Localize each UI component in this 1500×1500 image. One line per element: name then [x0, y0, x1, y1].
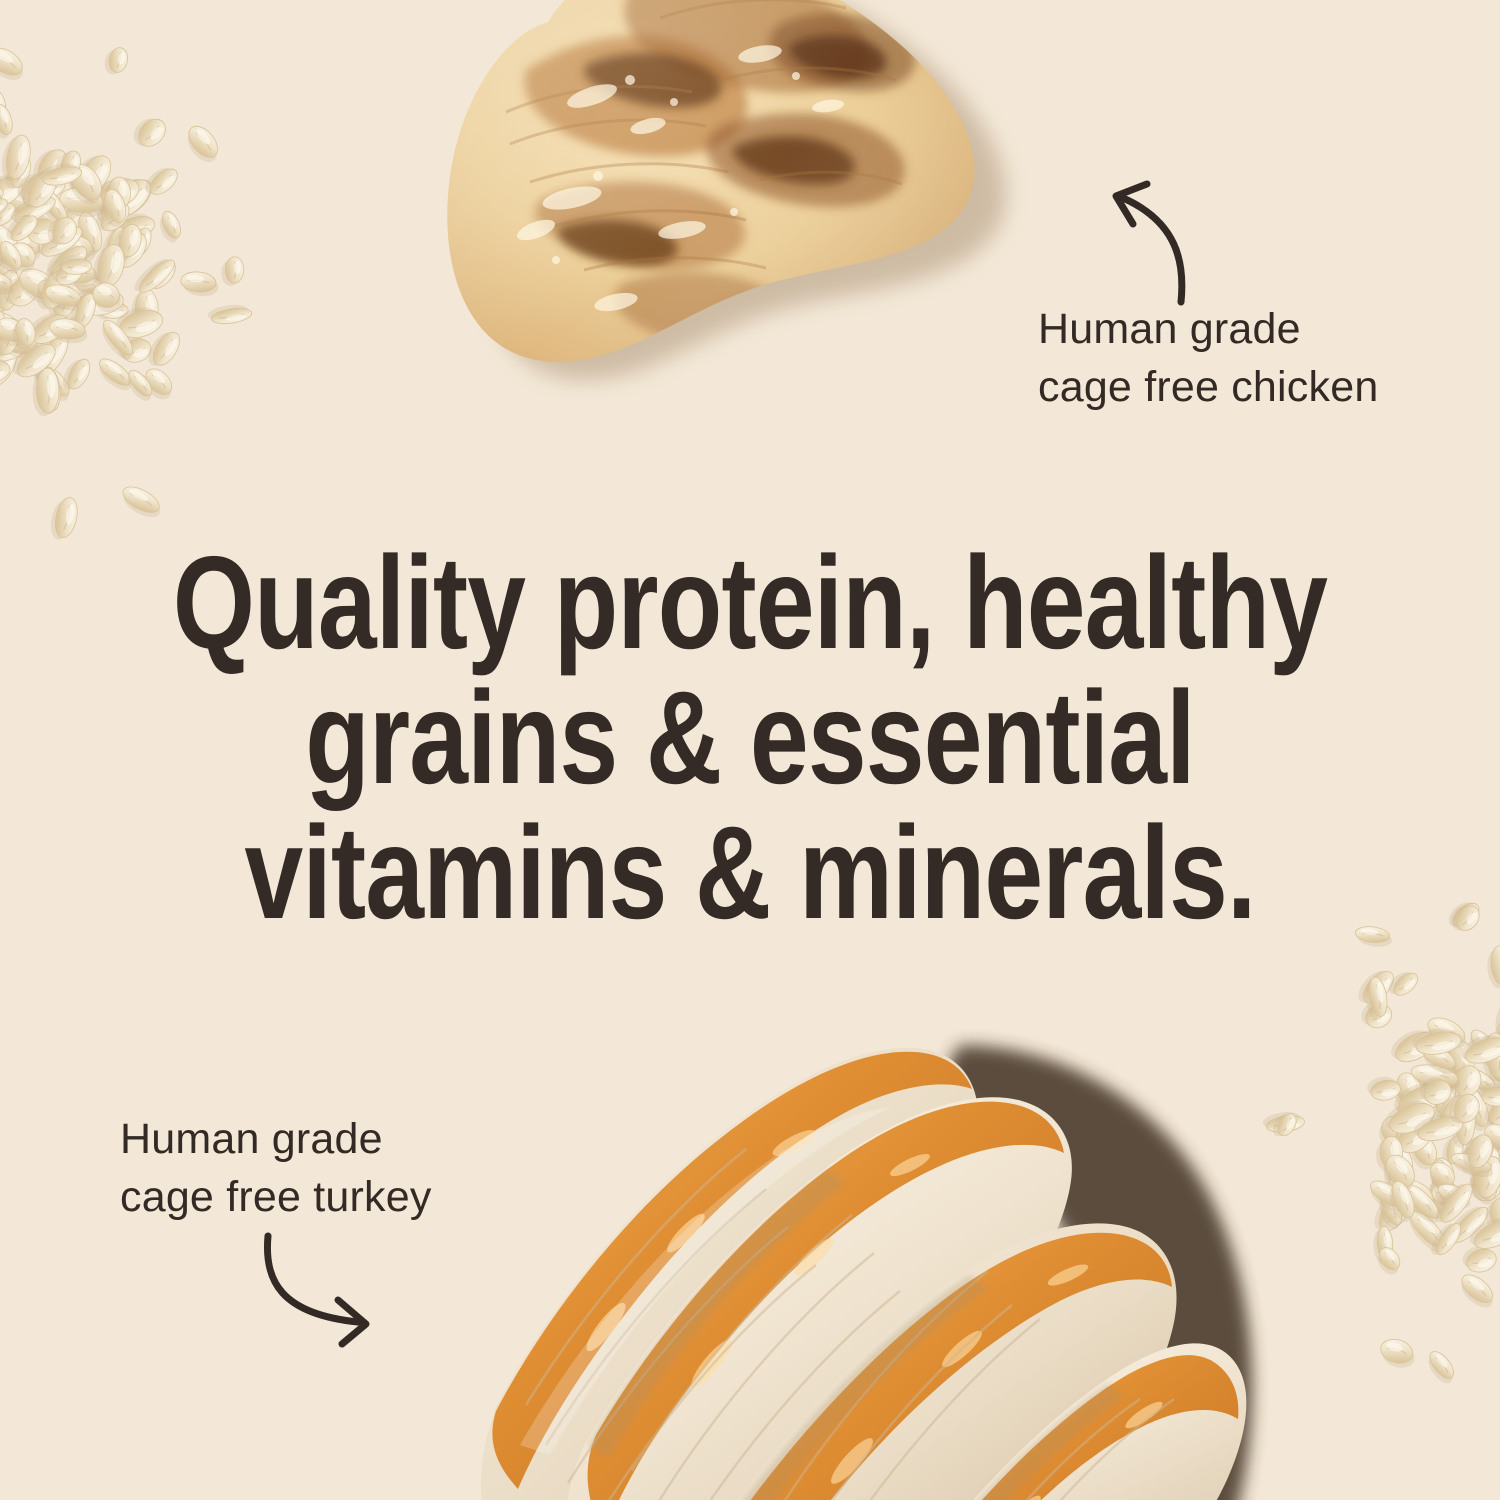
callout-chicken-line-1: Human grade — [1038, 300, 1378, 358]
headline-line-3: vitamins & minerals. — [150, 805, 1350, 940]
callout-turkey-line-2: cage free turkey — [120, 1168, 432, 1226]
sliced-roast-turkey-image — [400, 975, 1300, 1500]
callout-turkey: Human grade cage free turkey — [120, 1110, 432, 1226]
page-title: Quality protein, healthy grains & essent… — [150, 535, 1350, 940]
callout-turkey-line-1: Human grade — [120, 1110, 432, 1168]
headline-line-2: grains & essential — [150, 670, 1350, 805]
callout-chicken: Human grade cage free chicken — [1038, 300, 1378, 416]
callout-chicken-line-2: cage free chicken — [1038, 358, 1378, 416]
product-benefits-graphic: Quality protein, healthy grains & essent… — [0, 0, 1500, 1500]
roasted-chicken-breast-image — [330, 0, 1030, 450]
curved-arrow-icon-chicken — [1085, 170, 1215, 310]
oat-flakes-cluster-top-left — [0, 90, 260, 490]
oat-flakes-cluster-right — [1300, 930, 1500, 1350]
curved-arrow-icon-turkey — [258, 1228, 388, 1358]
headline-line-1: Quality protein, healthy — [150, 535, 1350, 670]
